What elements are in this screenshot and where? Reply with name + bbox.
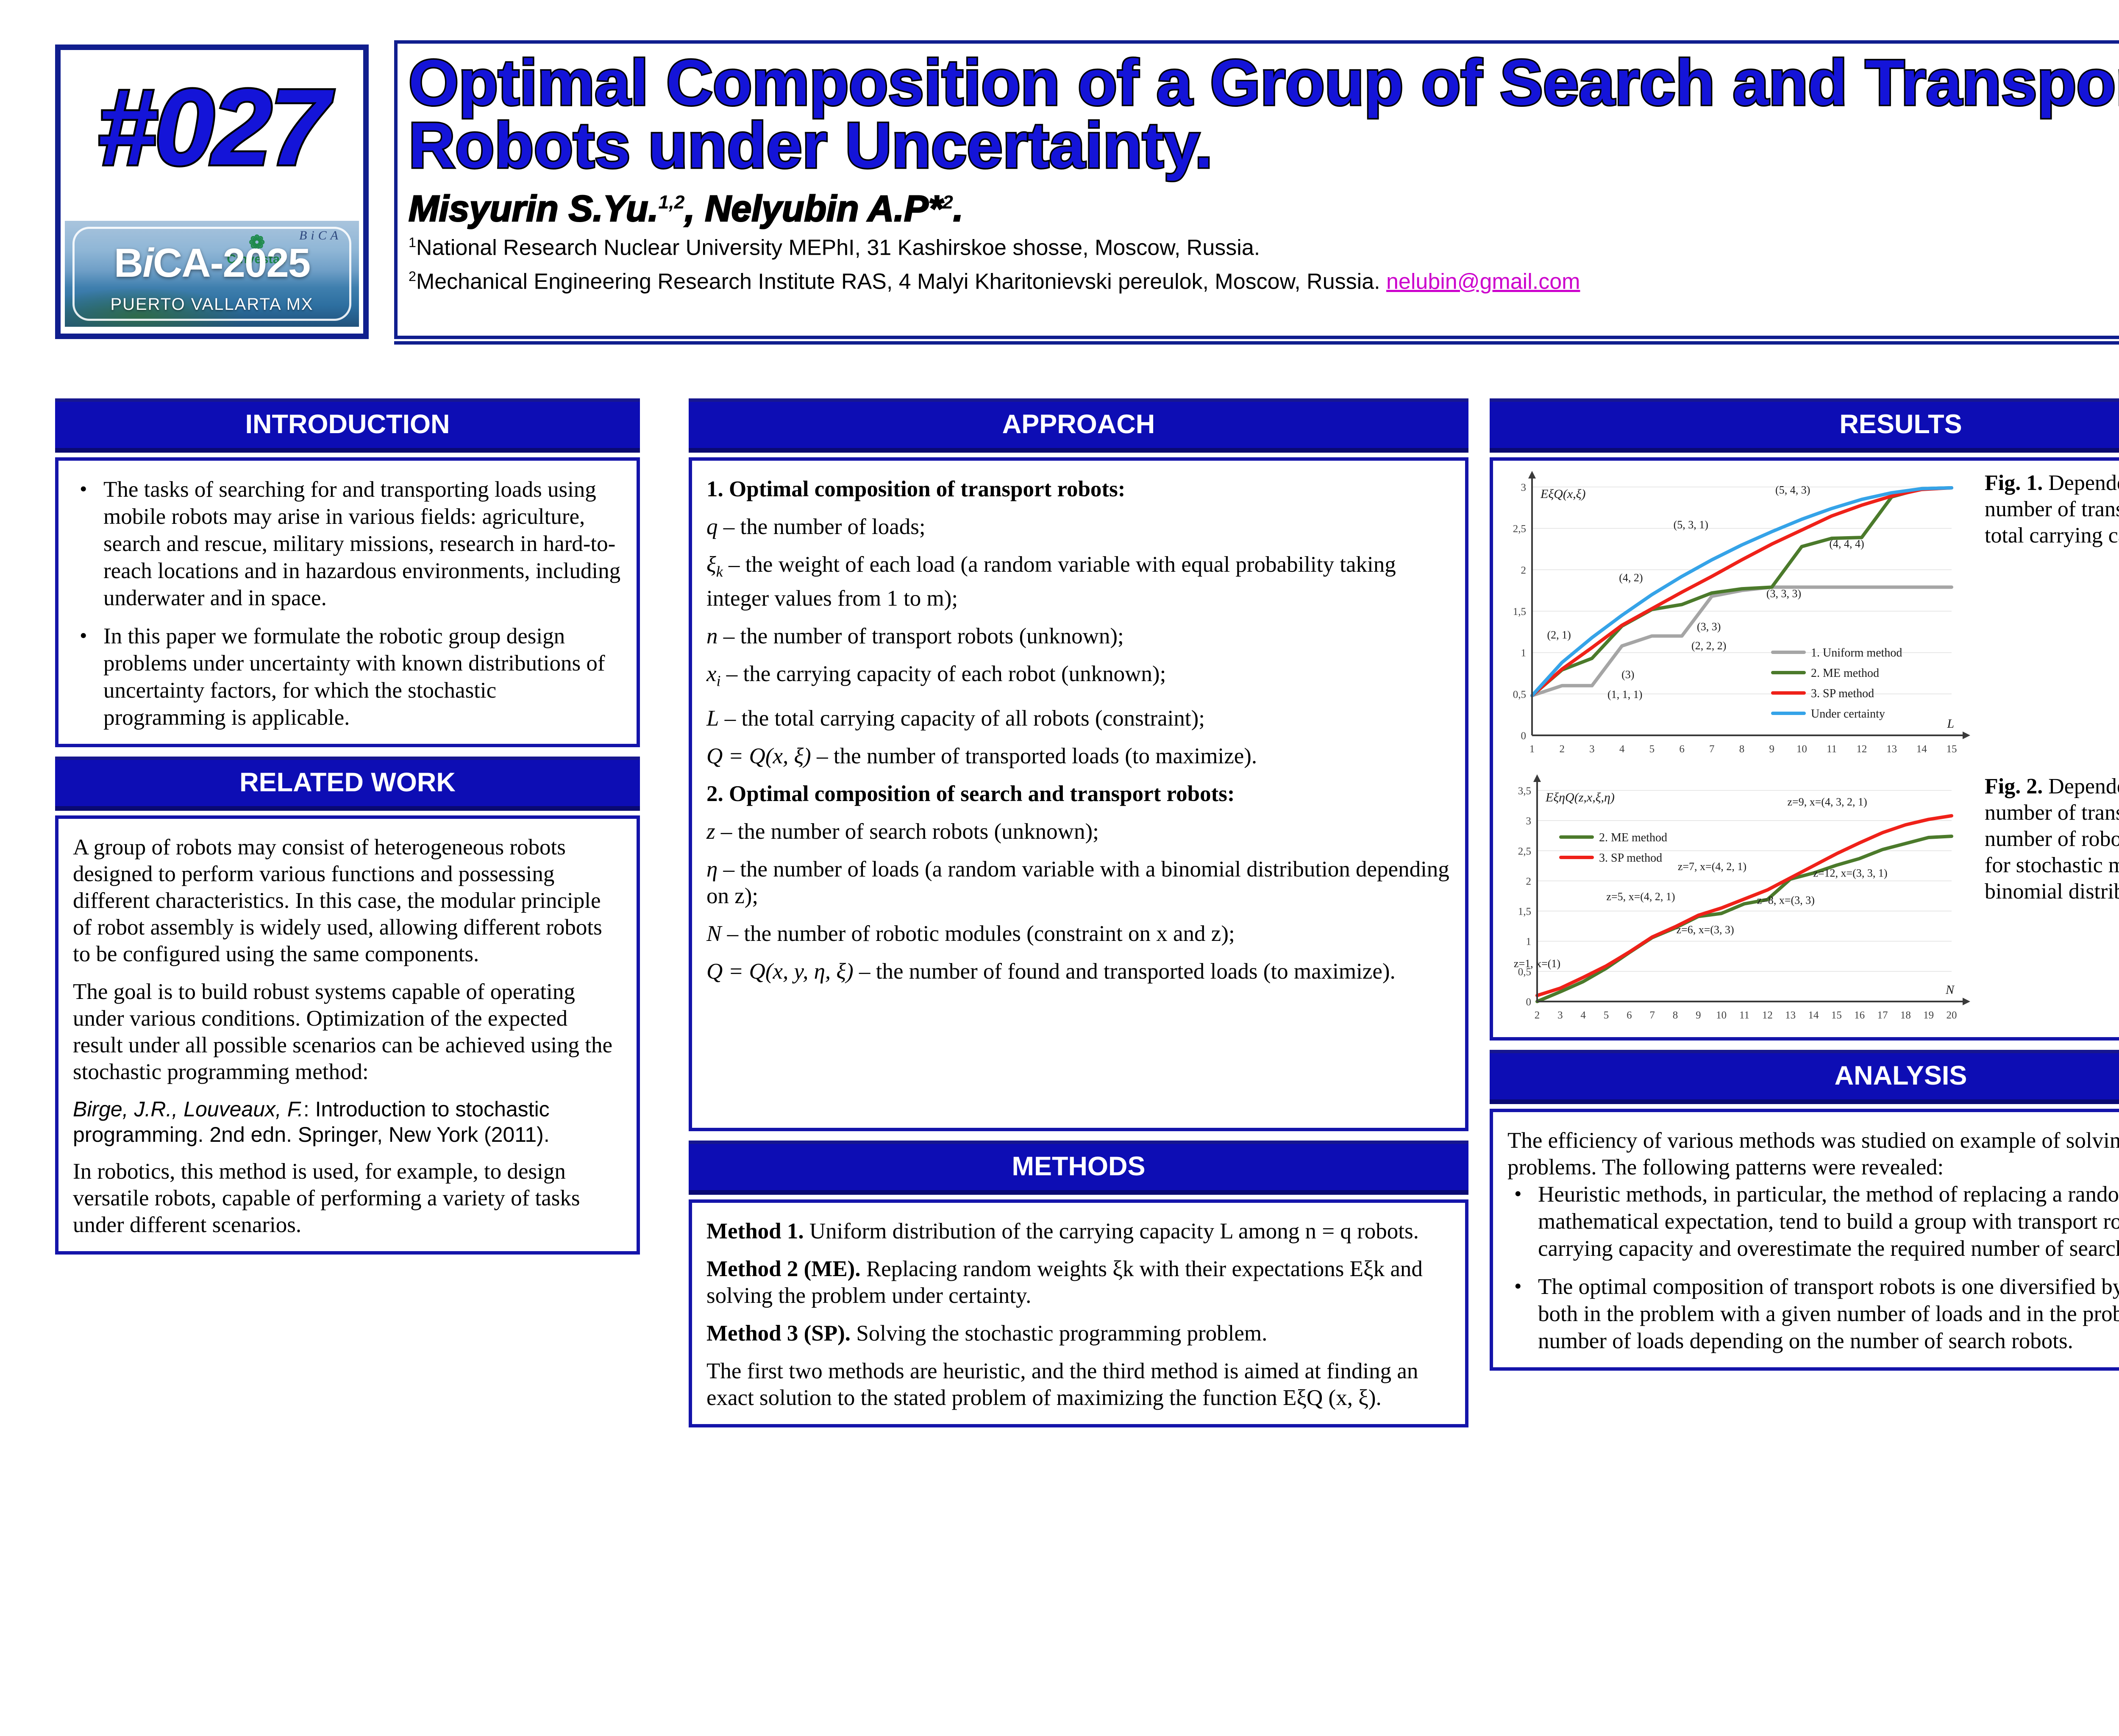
section-body-analysis: The efficiency of various methods was st… bbox=[1490, 1109, 2119, 1371]
affiliation-2-marker: 2 bbox=[409, 269, 416, 284]
contact-email-link[interactable]: nelubin@gmail.com bbox=[1386, 269, 1580, 294]
figure-1-row: (5, 4, 3)(4, 4, 4)(5, 3, 1)(3, 3, 3)(4, … bbox=[1502, 470, 2119, 762]
svg-text:11: 11 bbox=[1827, 743, 1837, 755]
svg-text:1: 1 bbox=[1529, 743, 1535, 755]
conference-location: PUERTO VALLARTA MX bbox=[65, 295, 359, 314]
method-2-label: Method 2 (ME). bbox=[706, 1257, 861, 1281]
method-3-text: Solving the stochastic programming probl… bbox=[851, 1321, 1267, 1346]
svg-text:16: 16 bbox=[1854, 1010, 1865, 1021]
affiliation-1-text: National Research Nuclear University MEP… bbox=[416, 235, 1260, 260]
definition: – the weight of each load (a random vari… bbox=[706, 552, 1396, 611]
symbol: L bbox=[706, 706, 719, 731]
introduction-bullet-list: The tasks of searching for and transport… bbox=[73, 476, 622, 731]
definition: – the number of transport robots (unknow… bbox=[718, 624, 1124, 648]
methods-note: The first two methods are heuristic, and… bbox=[706, 1358, 1451, 1411]
paragraph: The goal is to build robust systems capa… bbox=[73, 979, 622, 1085]
author-2-affil-marker: 2 bbox=[943, 192, 953, 213]
conference-name-ca: CA bbox=[153, 240, 210, 286]
definition: – the carrying capacity of each robot (u… bbox=[721, 662, 1166, 686]
svg-text:2: 2 bbox=[1535, 1010, 1540, 1021]
column-2: APPROACH 1. Optimal composition of trans… bbox=[689, 398, 1468, 1427]
svg-text:0,5: 0,5 bbox=[1518, 966, 1531, 978]
figure-2-plot: z=9, x=(4, 3, 2, 1)z=12, x=(3, 3, 1)z=7,… bbox=[1502, 773, 1976, 1028]
svg-text:(1, 1, 1): (1, 1, 1) bbox=[1607, 688, 1642, 701]
svg-text:10: 10 bbox=[1796, 743, 1807, 755]
svg-text:(3, 3, 3): (3, 3, 3) bbox=[1766, 587, 1801, 600]
reference-citation: Birge, J.R., Louveaux, F.: Introduction … bbox=[73, 1096, 622, 1147]
svg-text:Under certainty: Under certainty bbox=[1811, 707, 1885, 721]
svg-text:(5, 4, 3): (5, 4, 3) bbox=[1775, 484, 1810, 496]
svg-text:6: 6 bbox=[1627, 1010, 1632, 1021]
svg-text:1: 1 bbox=[1526, 936, 1532, 948]
svg-text:0: 0 bbox=[1526, 996, 1532, 1008]
author-2: , Nelyubin A.P* bbox=[685, 189, 943, 229]
paragraph: A group of robots may consist of heterog… bbox=[73, 834, 622, 968]
author-list: Misyurin S.Yu.1,2, Nelyubin A.P*2. bbox=[409, 184, 2119, 228]
svg-text:(3): (3) bbox=[1621, 668, 1634, 681]
svg-text:z=12, x=(3, 3, 1): z=12, x=(3, 3, 1) bbox=[1813, 867, 1887, 879]
approach-item: n – the number of transport robots (unkn… bbox=[706, 623, 1451, 650]
symbol: η bbox=[706, 857, 717, 882]
method-3: Method 3 (SP). Solving the stochastic pr… bbox=[706, 1320, 1451, 1347]
svg-text:13: 13 bbox=[1785, 1010, 1796, 1021]
figure-2-label: Fig. 2. bbox=[1985, 774, 2043, 798]
method-1-label: Method 1. bbox=[706, 1219, 804, 1244]
column-3: RESULTS (5, 4, 3)(4, 4, 4)(5, 3, 1)(3, 3… bbox=[1490, 398, 2119, 1371]
methods-text: Method 1. Uniform distribution of the ca… bbox=[706, 1218, 1451, 1411]
approach-item: N – the number of robotic modules (const… bbox=[706, 921, 1451, 947]
analysis-bullet-list: Heuristic methods, in particular, the me… bbox=[1507, 1181, 2119, 1355]
svg-text:8: 8 bbox=[1673, 1010, 1678, 1021]
definition: – the number of search robots (unknown); bbox=[715, 819, 1099, 844]
figure-1-caption: Fig. 1. Dependence of the expected numbe… bbox=[1985, 470, 2119, 762]
svg-text:11: 11 bbox=[1739, 1010, 1749, 1021]
spacer bbox=[689, 1131, 1468, 1141]
svg-text:z=7, x=(4, 2, 1): z=7, x=(4, 2, 1) bbox=[1678, 860, 1746, 873]
list-item: Heuristic methods, in particular, the me… bbox=[1507, 1181, 2119, 1262]
svg-text:3. SP method: 3. SP method bbox=[1599, 851, 1662, 865]
definition: – the number of robotic modules (constra… bbox=[721, 921, 1235, 946]
method-1: Method 1. Uniform distribution of the ca… bbox=[706, 1218, 1451, 1245]
svg-text:5: 5 bbox=[1604, 1010, 1609, 1021]
svg-text:4: 4 bbox=[1580, 1010, 1586, 1021]
author-1-affil-marker: 1,2 bbox=[658, 192, 684, 213]
spacer bbox=[55, 747, 640, 757]
spacer bbox=[1490, 1040, 2119, 1050]
svg-text:3: 3 bbox=[1557, 1010, 1563, 1021]
svg-text:(3, 3): (3, 3) bbox=[1697, 620, 1721, 633]
approach-item: Q = Q(x, ξ) – the number of transported … bbox=[706, 743, 1451, 770]
svg-text:EξηQ(z,x,ξ,η): EξηQ(z,x,ξ,η) bbox=[1545, 790, 1615, 804]
svg-text:1. Uniform method: 1. Uniform method bbox=[1811, 646, 1902, 659]
symbol: N bbox=[706, 921, 721, 946]
svg-text:z=6, x=(3, 3): z=6, x=(3, 3) bbox=[1677, 924, 1734, 936]
approach-item: q – the number of loads; bbox=[706, 514, 1451, 540]
svg-text:6: 6 bbox=[1679, 743, 1685, 755]
symbol: z bbox=[706, 819, 715, 844]
svg-text:7: 7 bbox=[1649, 1010, 1655, 1021]
symbol: ξ bbox=[706, 552, 716, 577]
svg-text:2: 2 bbox=[1559, 743, 1565, 755]
svg-text:N: N bbox=[1945, 983, 1955, 997]
page-title-line2: Robots under Uncertainty. bbox=[409, 114, 2119, 177]
svg-text:15: 15 bbox=[1831, 1010, 1842, 1021]
svg-text:3. SP method: 3. SP method bbox=[1811, 687, 1874, 700]
affiliation-2-text: Mechanical Engineering Research Institut… bbox=[416, 269, 1380, 294]
svg-text:17: 17 bbox=[1877, 1010, 1888, 1021]
approach-item: η – the number of loads (a random variab… bbox=[706, 856, 1451, 910]
affiliation-2: 2Mechanical Engineering Research Institu… bbox=[409, 262, 2119, 296]
list-item: The tasks of searching for and transport… bbox=[73, 476, 622, 612]
svg-text:2: 2 bbox=[1526, 876, 1532, 887]
reference-authors: Birge, J.R., Louveaux, F. bbox=[73, 1097, 303, 1121]
definition: – the number of found and transported lo… bbox=[854, 959, 1396, 984]
analysis-intro: The efficiency of various methods was st… bbox=[1507, 1127, 2119, 1181]
paragraph: The efficiency of various methods was st… bbox=[1507, 1127, 2119, 1181]
symbol: q bbox=[706, 515, 718, 539]
conference-name-i: i bbox=[142, 240, 153, 286]
approach-item: ξk – the weight of each load (a random v… bbox=[706, 551, 1451, 612]
svg-text:9: 9 bbox=[1696, 1010, 1701, 1021]
svg-text:(5, 3, 1): (5, 3, 1) bbox=[1674, 519, 1708, 531]
approach-item: xi – the carrying capacity of each robot… bbox=[706, 661, 1451, 695]
svg-text:0,5: 0,5 bbox=[1513, 689, 1526, 700]
svg-text:L: L bbox=[1947, 717, 1954, 731]
symbol: x bbox=[706, 662, 717, 686]
svg-text:18: 18 bbox=[1900, 1010, 1911, 1021]
svg-text:1,5: 1,5 bbox=[1518, 906, 1531, 918]
approach-heading-2: 2. Optimal composition of search and tra… bbox=[706, 781, 1451, 807]
conference-name-b: B bbox=[114, 240, 142, 286]
author-list-end: . bbox=[953, 189, 963, 229]
svg-text:4: 4 bbox=[1619, 743, 1625, 755]
section-body-approach: 1. Optimal composition of transport robo… bbox=[689, 457, 1468, 1131]
svg-text:3: 3 bbox=[1526, 815, 1532, 827]
section-title-analysis: ANALYSIS bbox=[1490, 1050, 2119, 1104]
definition: – the number of transported loads (to ma… bbox=[811, 744, 1257, 768]
approach-text: 1. Optimal composition of transport robo… bbox=[706, 476, 1451, 985]
svg-text:3: 3 bbox=[1521, 482, 1527, 493]
author-1: Misyurin S.Yu. bbox=[409, 189, 658, 229]
svg-text:12: 12 bbox=[1856, 743, 1867, 755]
method-1-text: Uniform distribution of the carrying cap… bbox=[804, 1219, 1419, 1244]
svg-text:7: 7 bbox=[1709, 743, 1715, 755]
figure-1: (5, 4, 3)(4, 4, 4)(5, 3, 1)(3, 3, 3)(4, … bbox=[1502, 470, 1976, 762]
svg-text:10: 10 bbox=[1716, 1010, 1727, 1021]
symbol: Q = Q(x, y, η, ξ) bbox=[706, 959, 854, 984]
svg-text:z=9, x=(4, 3, 2, 1): z=9, x=(4, 3, 2, 1) bbox=[1788, 796, 1867, 808]
title-block: Optimal Composition of a Group of Search… bbox=[394, 40, 2119, 339]
symbol: n bbox=[706, 624, 718, 648]
column-1: INTRODUCTION The tasks of searching for … bbox=[55, 398, 640, 1255]
svg-text:20: 20 bbox=[1947, 1010, 1957, 1021]
section-title-results: RESULTS bbox=[1490, 398, 2119, 453]
poster-header: #027 ❁ Cinvestav BiCA BiCA-2025 PUERTO V… bbox=[0, 0, 2119, 373]
svg-text:14: 14 bbox=[1916, 743, 1927, 755]
svg-text:9: 9 bbox=[1769, 743, 1774, 755]
svg-text:8: 8 bbox=[1739, 743, 1745, 755]
svg-text:(2, 2, 2): (2, 2, 2) bbox=[1691, 640, 1726, 652]
list-item: In this paper we formulate the robotic g… bbox=[73, 623, 622, 731]
svg-text:13: 13 bbox=[1886, 743, 1897, 755]
svg-text:5: 5 bbox=[1649, 743, 1655, 755]
section-title-approach: APPROACH bbox=[689, 398, 1468, 453]
definition: – the total carrying capacity of all rob… bbox=[719, 706, 1204, 731]
page-title-line1: Optimal Composition of a Group of Search… bbox=[409, 51, 2119, 114]
svg-text:0: 0 bbox=[1521, 730, 1527, 742]
conference-year: -2025 bbox=[210, 240, 310, 286]
svg-text:3,5: 3,5 bbox=[1518, 785, 1531, 797]
svg-text:15: 15 bbox=[1947, 743, 1957, 755]
svg-text:2. ME method: 2. ME method bbox=[1811, 667, 1879, 680]
svg-text:(4, 4, 4): (4, 4, 4) bbox=[1829, 538, 1864, 550]
svg-text:(4, 2): (4, 2) bbox=[1619, 572, 1643, 584]
approach-item: z – the number of search robots (unknown… bbox=[706, 818, 1451, 845]
approach-heading-1: 1. Optimal composition of transport robo… bbox=[706, 476, 1451, 503]
figure-1-label: Fig. 1. bbox=[1985, 471, 2043, 495]
related-work-text: A group of robots may consist of heterog… bbox=[73, 834, 622, 1238]
svg-text:19: 19 bbox=[1923, 1010, 1934, 1021]
svg-text:14: 14 bbox=[1808, 1010, 1819, 1021]
section-body-introduction: The tasks of searching for and transport… bbox=[55, 457, 640, 747]
affiliation-1: 1National Research Nuclear University ME… bbox=[409, 228, 2119, 262]
section-body-related-work: A group of robots may consist of heterog… bbox=[55, 815, 640, 1255]
poster-number: #027 bbox=[61, 73, 363, 181]
affiliation-1-marker: 1 bbox=[409, 235, 416, 250]
svg-text:2: 2 bbox=[1521, 565, 1527, 576]
svg-text:z=5, x=(4, 2, 1): z=5, x=(4, 2, 1) bbox=[1606, 890, 1675, 903]
approach-item: Q = Q(x, y, η, ξ) – the number of found … bbox=[706, 958, 1451, 985]
section-body-results: (5, 4, 3)(4, 4, 4)(5, 3, 1)(3, 3, 3)(4, … bbox=[1490, 457, 2119, 1040]
conference-title: BiCA-2025 bbox=[65, 243, 359, 284]
figure-1-plot: (5, 4, 3)(4, 4, 4)(5, 3, 1)(3, 3, 3)(4, … bbox=[1502, 470, 1976, 762]
svg-text:EξQ(x,ξ): EξQ(x,ξ) bbox=[1540, 487, 1585, 501]
definition: – the number of loads; bbox=[718, 515, 926, 539]
svg-text:2,5: 2,5 bbox=[1513, 523, 1526, 535]
figure-2-row: z=9, x=(4, 3, 2, 1)z=12, x=(3, 3, 1)z=7,… bbox=[1502, 773, 2119, 1028]
section-title-related-work: RELATED WORK bbox=[55, 757, 640, 811]
symbol-subscript: i bbox=[717, 672, 721, 689]
svg-text:2,5: 2,5 bbox=[1518, 846, 1531, 857]
poster-number-badge: #027 ❁ Cinvestav BiCA BiCA-2025 PUERTO V… bbox=[55, 45, 369, 339]
svg-text:1,5: 1,5 bbox=[1513, 606, 1526, 618]
figure-2-caption: Fig. 2. Dependence of the expected numbe… bbox=[1985, 773, 2119, 1028]
method-2: Method 2 (ME). Replacing random weights … bbox=[706, 1256, 1451, 1309]
svg-text:12: 12 bbox=[1762, 1010, 1773, 1021]
svg-text:1: 1 bbox=[1521, 648, 1527, 659]
svg-text:(2, 1): (2, 1) bbox=[1547, 629, 1571, 641]
section-title-introduction: INTRODUCTION bbox=[55, 398, 640, 453]
symbol: Q = Q(x, ξ) bbox=[706, 744, 811, 768]
svg-text:2. ME method: 2. ME method bbox=[1599, 831, 1667, 844]
list-item: The optimal composition of transport rob… bbox=[1507, 1273, 2119, 1355]
header-divider bbox=[394, 341, 2119, 345]
symbol-subscript: k bbox=[716, 563, 723, 580]
section-title-methods: METHODS bbox=[689, 1141, 1468, 1195]
page-title: Optimal Composition of a Group of Search… bbox=[409, 51, 2119, 177]
svg-text:3: 3 bbox=[1589, 743, 1595, 755]
section-body-methods: Method 1. Uniform distribution of the ca… bbox=[689, 1199, 1468, 1427]
definition: – the number of loads (a random variable… bbox=[706, 857, 1449, 908]
approach-item: L – the total carrying capacity of all r… bbox=[706, 705, 1451, 732]
svg-text:z=8, x=(3, 3): z=8, x=(3, 3) bbox=[1757, 894, 1815, 906]
method-3-label: Method 3 (SP). bbox=[706, 1321, 851, 1346]
paragraph: In robotics, this method is used, for ex… bbox=[73, 1158, 622, 1238]
figure-2: z=9, x=(4, 3, 2, 1)z=12, x=(3, 3, 1)z=7,… bbox=[1502, 773, 1976, 1028]
conference-logo: ❁ Cinvestav BiCA BiCA-2025 PUERTO VALLAR… bbox=[65, 221, 359, 327]
